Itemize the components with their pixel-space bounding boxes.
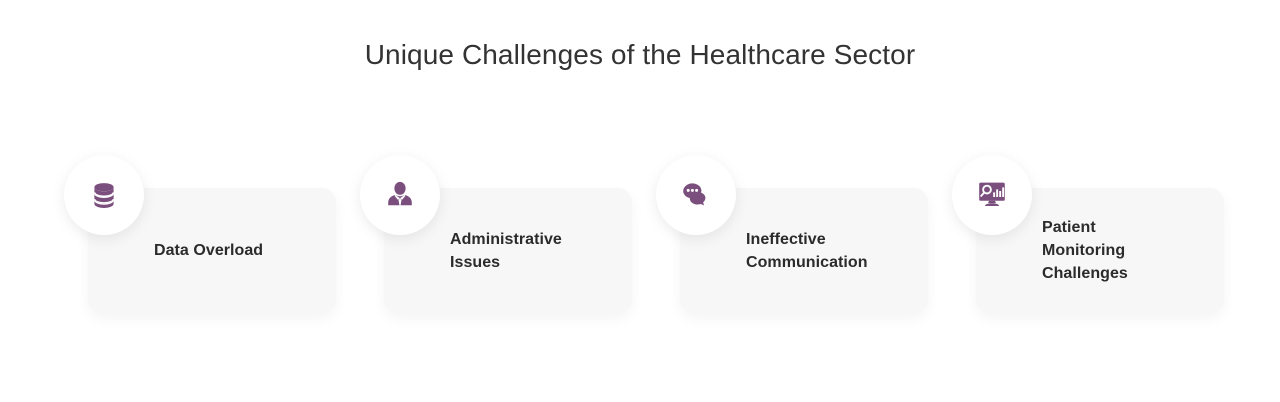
card-label-line: Challenges — [1042, 262, 1128, 285]
monitor-analytics-icon — [974, 179, 1010, 211]
challenge-card-administrative-issues[interactable]: Administrative Issues — [360, 150, 656, 325]
card-label-line: Issues — [450, 251, 562, 274]
card-label: Ineffective Communication — [746, 188, 926, 313]
card-label-line: Administrative — [450, 228, 562, 251]
card-label-line: Communication — [746, 251, 868, 274]
card-label-line: Ineffective — [746, 228, 868, 251]
card-label: Administrative Issues — [450, 188, 630, 313]
challenge-card-ineffective-communication[interactable]: Ineffective Communication — [656, 150, 952, 325]
challenge-card-data-overload[interactable]: Data Overload — [64, 150, 360, 325]
card-label-line: Data Overload — [154, 239, 263, 262]
card-label: Data Overload — [154, 188, 334, 313]
icon-badge[interactable] — [360, 155, 440, 235]
chat-bubbles-icon — [679, 179, 713, 212]
icon-badge[interactable] — [656, 155, 736, 235]
icon-badge[interactable] — [952, 155, 1032, 235]
card-label-line: Monitoring — [1042, 239, 1128, 262]
icon-badge[interactable] — [64, 155, 144, 235]
database-icon — [87, 178, 121, 212]
infographic-page: Unique Challenges of the Healthcare Sect… — [0, 0, 1280, 402]
challenge-card-patient-monitoring[interactable]: Patient Monitoring Challenges — [952, 150, 1248, 325]
businessperson-icon — [384, 179, 416, 211]
page-title: Unique Challenges of the Healthcare Sect… — [0, 36, 1280, 74]
card-label: Patient Monitoring Challenges — [1042, 188, 1222, 313]
challenge-card-row: Data Overload — [0, 150, 1280, 330]
card-label-line: Patient — [1042, 216, 1128, 239]
